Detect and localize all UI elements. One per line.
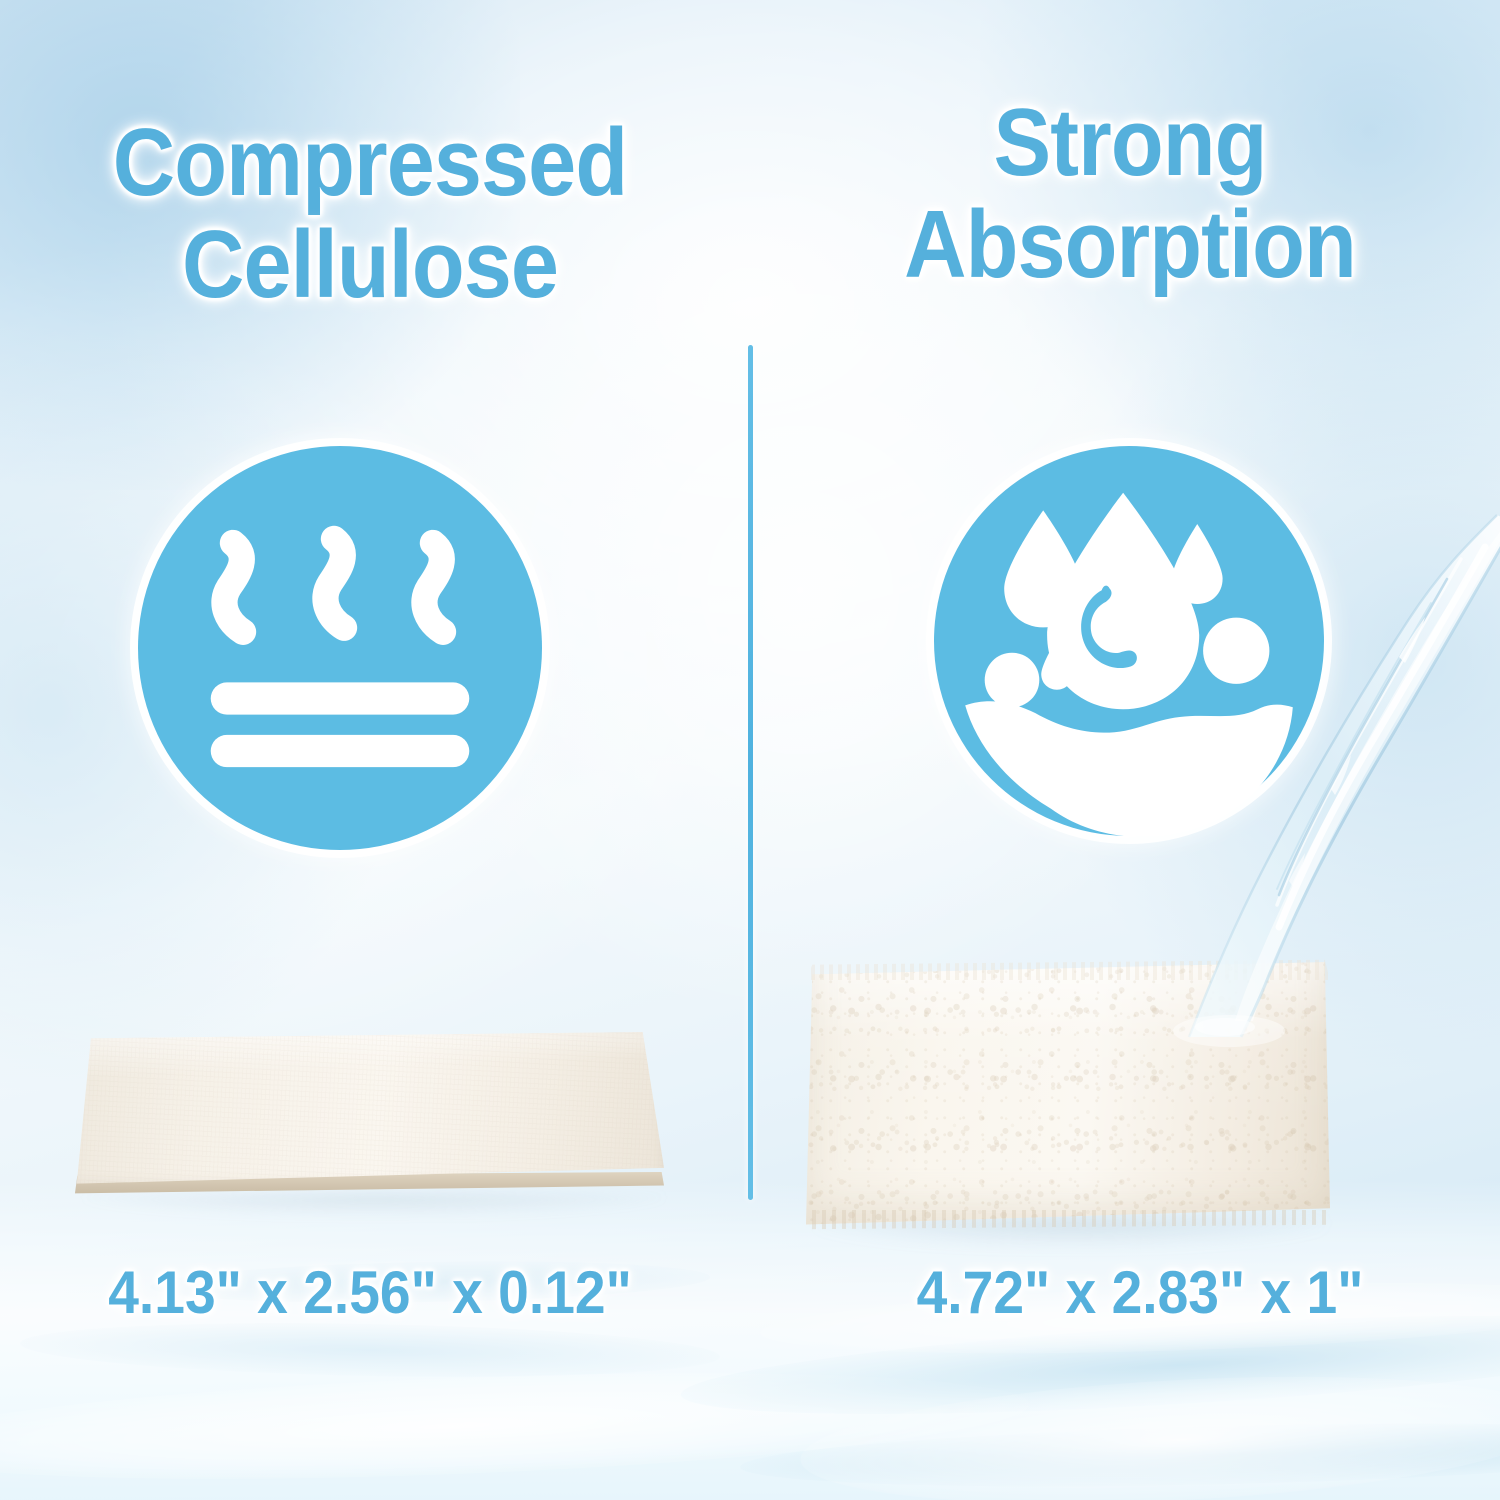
product-infographic: Compressed Cellulose Strong Absorption: [0, 0, 1500, 1500]
water-ripple: [20, 1317, 721, 1382]
sponge-rough-top-edge: [806, 958, 1330, 980]
water-ripple: [797, 1360, 1500, 1500]
flat-compressed-cellulose-sheet: [72, 1032, 664, 1212]
sponge-fine-texture: [806, 958, 1330, 1230]
panel-heading-right: Strong Absorption: [833, 92, 1427, 296]
compressed-layers-icon: [138, 446, 542, 850]
panel-heading-left: Compressed Cellulose: [73, 112, 667, 316]
water-absorption-icon: [934, 446, 1324, 836]
dimension-label-right: 4.72" x 2.83" x 1": [818, 1258, 1462, 1327]
water-ripple: [0, 1356, 1031, 1496]
sheet-surface-grain: [72, 1032, 664, 1190]
vertical-panel-divider: [748, 345, 753, 1200]
expanded-cellulose-sponge: [806, 958, 1330, 1230]
product-shadow: [84, 1194, 664, 1216]
water-ripple: [739, 1414, 1500, 1496]
dimension-label-left: 4.13" x 2.56" x 0.12": [48, 1258, 692, 1327]
